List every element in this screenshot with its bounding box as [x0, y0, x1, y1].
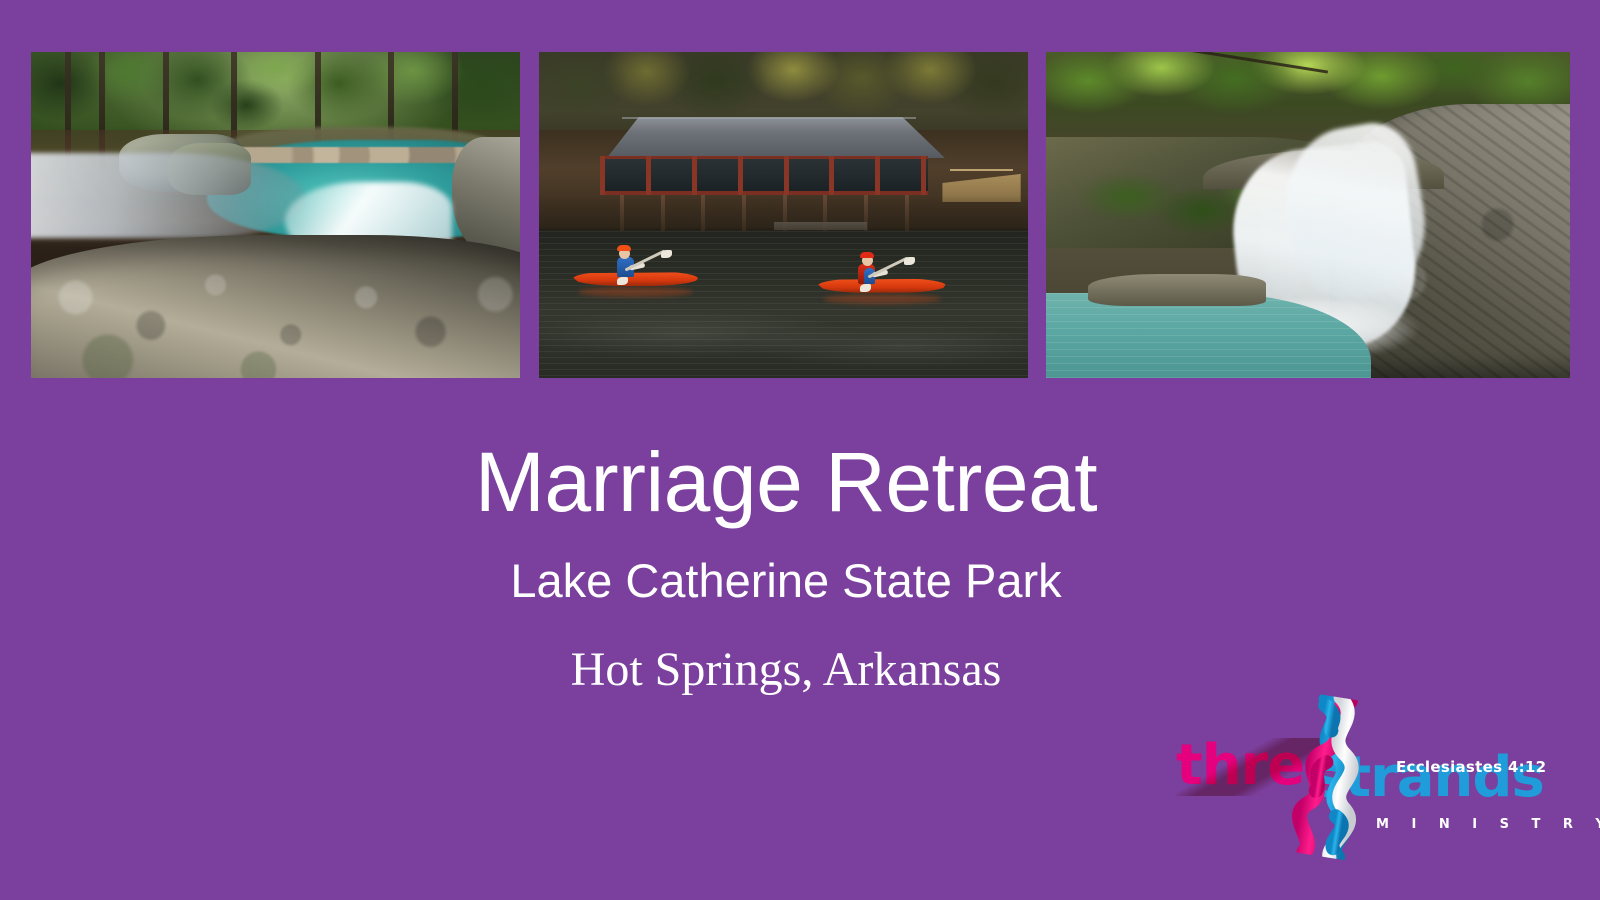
kayak-left: [573, 257, 698, 291]
photo-kayakers-boathouse: [539, 52, 1028, 378]
logo-verse-reference: Ecclesiastes 4:12: [1396, 758, 1546, 776]
support-post: [921, 156, 926, 195]
support-post: [738, 156, 743, 195]
photo-strip: [31, 52, 1570, 378]
paddle-blade: [904, 257, 915, 265]
three-strands-ministry-logo: three strands: [1168, 700, 1558, 852]
bank-rock: [1088, 274, 1266, 307]
kayak-reflection: [823, 294, 941, 304]
red-cap: [860, 252, 874, 258]
paddle-blade: [661, 250, 672, 258]
venue-subtitle: Lake Catherine State Park: [0, 557, 1572, 604]
kayak-hull: [818, 278, 946, 293]
photo-1-scene: [31, 52, 520, 378]
support-post: [646, 156, 651, 195]
braided-rope-icon: [1282, 692, 1392, 863]
photo-3-scene: [1046, 52, 1570, 378]
logo-ministry-word: M I N I S T R Y: [1376, 817, 1600, 832]
rock-texture: [31, 235, 520, 378]
kayak-hull: [573, 271, 698, 286]
water-ripples: [539, 231, 1028, 378]
photo-2-scene: [539, 52, 1028, 378]
photo-waterfall-cascade-pool: [31, 52, 520, 378]
slide-text-block: Marriage Retreat Lake Catherine State Pa…: [0, 440, 1572, 694]
support-post: [692, 156, 697, 195]
boathouse-roof: [593, 117, 945, 158]
orange-cap: [617, 245, 631, 251]
support-post: [875, 156, 880, 195]
location-subtitle: Hot Springs, Arkansas: [0, 646, 1572, 694]
support-post: [600, 156, 605, 195]
kayak-right: [818, 264, 946, 298]
photo-waterfall-turquoise-pool: [1046, 52, 1570, 378]
dock-railing: [950, 169, 1014, 171]
support-post: [829, 156, 834, 195]
shoreline-shadow: [539, 195, 1028, 234]
roof-ridge: [622, 117, 915, 119]
stone-line: [217, 147, 491, 163]
silky-water-flow: [31, 153, 305, 238]
boathouse-post-row: [600, 156, 928, 195]
support-post: [784, 156, 789, 195]
page-title: Marriage Retreat: [0, 440, 1572, 524]
paddle-blade: [860, 284, 871, 292]
